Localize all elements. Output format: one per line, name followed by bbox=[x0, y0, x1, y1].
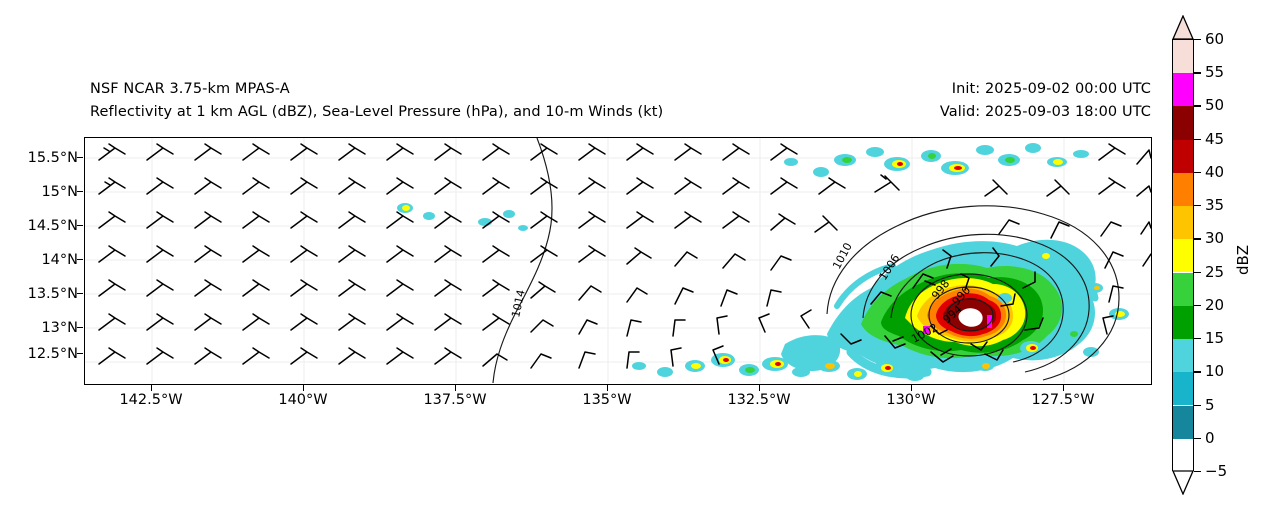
ctick-15 bbox=[1194, 338, 1201, 339]
cband-40-45 bbox=[1173, 140, 1193, 173]
clabel-neg5: −5 bbox=[1205, 462, 1227, 480]
cband-30-35 bbox=[1173, 206, 1193, 239]
clabel-20: 20 bbox=[1205, 296, 1224, 314]
ctick-40 bbox=[1194, 172, 1201, 173]
ctick-50 bbox=[1194, 105, 1201, 106]
clabel-5: 5 bbox=[1205, 396, 1215, 414]
clabel-0: 0 bbox=[1205, 429, 1215, 447]
ytick-label-5: 13°N bbox=[0, 320, 78, 336]
xtick-mark-6 bbox=[1063, 385, 1064, 391]
ctick-35 bbox=[1194, 205, 1201, 206]
model-name-title: NSF NCAR 3.75-km MPAS-A bbox=[90, 81, 290, 97]
clabel-60: 60 bbox=[1205, 30, 1224, 48]
xtick-mark-0 bbox=[151, 385, 152, 391]
ctick-5 bbox=[1194, 405, 1201, 406]
clabel-15: 15 bbox=[1205, 329, 1224, 347]
xtick-mark-1 bbox=[303, 385, 304, 391]
cband-10-15 bbox=[1173, 339, 1193, 372]
ctick-0 bbox=[1194, 438, 1201, 439]
cband-0-5 bbox=[1173, 406, 1193, 439]
field-description-title: Reflectivity at 1 km AGL (dBZ), Sea-Leve… bbox=[90, 104, 663, 120]
ytick-label-2: 14.5°N bbox=[0, 218, 78, 234]
xtick-mark-2 bbox=[455, 385, 456, 391]
ctick-25 bbox=[1194, 272, 1201, 273]
cband-45-50 bbox=[1173, 106, 1193, 139]
clabel-10: 10 bbox=[1205, 362, 1224, 380]
clabel-30: 30 bbox=[1205, 229, 1224, 247]
cband-15-20 bbox=[1173, 306, 1193, 339]
clabel-40: 40 bbox=[1205, 163, 1224, 181]
valid-time-label: Valid: 2025-09-03 18:00 UTC bbox=[940, 104, 1151, 120]
map-axes: 1014 1010 1006 1002 998 994 990 bbox=[84, 137, 1152, 385]
cband-neg5-0 bbox=[1173, 439, 1193, 472]
cband-55-60 bbox=[1173, 40, 1193, 73]
xtick-mark-3 bbox=[607, 385, 608, 391]
xtick-mark-5 bbox=[911, 385, 912, 391]
ytick-mark-6 bbox=[77, 353, 83, 354]
ytick-mark-0 bbox=[77, 157, 83, 158]
cband-5-10 bbox=[1173, 372, 1193, 405]
clabel-45: 45 bbox=[1205, 130, 1224, 148]
ctick-60 bbox=[1194, 39, 1201, 40]
ytick-label-3: 14°N bbox=[0, 252, 78, 268]
clabel-35: 35 bbox=[1205, 196, 1224, 214]
colorbar-axis-label: dBZ bbox=[1234, 245, 1252, 275]
cband-20-25 bbox=[1173, 273, 1193, 306]
cband-25-30 bbox=[1173, 239, 1193, 272]
map-content: 1014 1010 1006 1002 998 994 990 bbox=[85, 138, 1151, 383]
ytick-label-0: 15.5°N bbox=[0, 150, 78, 166]
ytick-mark-4 bbox=[77, 293, 83, 294]
ctick-30 bbox=[1194, 238, 1201, 239]
xtick-label-4: 132.5°W bbox=[699, 392, 819, 408]
xtick-label-6: 127.5°W bbox=[1003, 392, 1123, 408]
cband-35-40 bbox=[1173, 173, 1193, 206]
map-render: 1014 1010 1006 1002 998 994 990 bbox=[85, 138, 1151, 383]
clabel-50: 50 bbox=[1205, 96, 1224, 114]
ytick-label-6: 12.5°N bbox=[0, 346, 78, 362]
ytick-mark-1 bbox=[77, 191, 83, 192]
ytick-label-1: 15°N bbox=[0, 184, 78, 200]
ctick-10 bbox=[1194, 371, 1201, 372]
colorbar-min-extend-arrow bbox=[1172, 470, 1194, 495]
figure-canvas: NSF NCAR 3.75-km MPAS-A Reflectivity at … bbox=[0, 0, 1272, 520]
xtick-label-3: 135°W bbox=[547, 392, 667, 408]
ctick-neg5 bbox=[1194, 471, 1201, 472]
ctick-20 bbox=[1194, 305, 1201, 306]
xtick-mark-4 bbox=[759, 385, 760, 391]
colorbar: 60 55 50 45 40 35 30 25 20 15 10 5 0 −5 bbox=[1172, 15, 1196, 495]
xtick-label-5: 130°W bbox=[851, 392, 971, 408]
colorbar-max-extend-arrow bbox=[1172, 15, 1194, 40]
ctick-45 bbox=[1194, 139, 1201, 140]
ytick-mark-5 bbox=[77, 327, 83, 328]
xtick-label-0: 142.5°W bbox=[91, 392, 211, 408]
cband-50-55 bbox=[1173, 73, 1193, 106]
ctick-55 bbox=[1194, 72, 1201, 73]
colorbar-bands bbox=[1172, 39, 1194, 471]
ytick-label-4: 13.5°N bbox=[0, 286, 78, 302]
ytick-mark-3 bbox=[77, 259, 83, 260]
xtick-label-2: 137.5°W bbox=[395, 392, 515, 408]
ytick-mark-2 bbox=[77, 225, 83, 226]
init-time-label: Init: 2025-09-02 00:00 UTC bbox=[952, 81, 1151, 97]
clabel-55: 55 bbox=[1205, 63, 1224, 81]
xtick-label-1: 140°W bbox=[243, 392, 363, 408]
clabel-25: 25 bbox=[1205, 263, 1224, 281]
